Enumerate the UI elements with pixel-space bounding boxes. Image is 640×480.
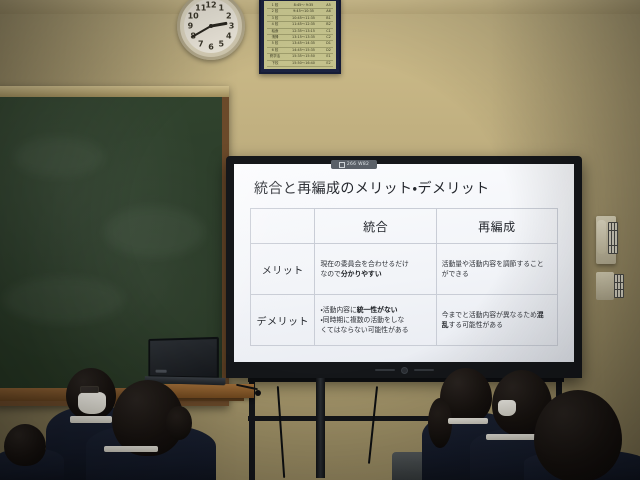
row-label-demerit: デメリット: [251, 295, 315, 346]
bell-schedule-poster: 1 校8:45〜 9:35A52 校9:45〜10:35A63 校10:45〜1…: [259, 0, 341, 74]
schedule-period: 終学活: [267, 54, 283, 59]
table-corner-cell: [251, 209, 315, 244]
table-body: メリット現在の委員会を合わせるだけなので分かりやすい活動量や活動内容を調節するこ…: [251, 244, 558, 346]
schedule-time: 13:15〜13:35: [286, 35, 321, 40]
schedule-room: D1: [324, 41, 333, 46]
table-header-row: 統合 再編成: [251, 209, 558, 244]
cell-line: 今までと活動内容が異なるため混: [442, 310, 552, 320]
display-screen[interactable]: 統合と再編成のメリット・デメリット 統合 再編成 メリット現在の委員会を合わせる…: [234, 164, 574, 362]
schedule-room: E2: [324, 61, 333, 66]
chalk-smudge: [4, 277, 124, 323]
clock-number-9: 9: [188, 22, 194, 31]
clock-number-7: 7: [198, 39, 204, 48]
clock-hour-hand: [211, 22, 227, 28]
clock-number-11: 11: [195, 4, 206, 13]
laptop-screen: [148, 337, 219, 379]
schedule-rows: 1 校8:45〜 9:35A52 校9:45〜10:35A63 校10:45〜1…: [264, 1, 336, 69]
schedule-period: 2 校: [267, 9, 283, 14]
table-cell: 今までと活動内容が異なるため混乱する可能性がある: [436, 295, 557, 346]
schedule-time: 15:50〜16:40: [286, 61, 321, 66]
cell-line: 活動量や活動内容を調節すること: [442, 259, 552, 269]
wall-intercom-keypad[interactable]: [614, 274, 624, 298]
face-mask: [498, 400, 516, 416]
speaker-slot: [375, 369, 395, 371]
laptop[interactable]: [148, 337, 219, 385]
schedule-time: 14:45〜15:35: [286, 48, 321, 53]
cell-line: 現在の委員会を合わせるだけ: [320, 259, 430, 269]
clock-center-pin: [209, 24, 213, 28]
comparison-table: 統合 再編成 メリット現在の委員会を合わせるだけなので分かりやすい活動量や活動内…: [250, 208, 558, 346]
schedule-period: 給食: [267, 29, 283, 34]
display-status-badge: 266 W82: [331, 160, 377, 169]
schedule-period: 3 校: [267, 16, 283, 21]
sailor-collar: [448, 418, 488, 424]
schedule-room: B2: [324, 22, 333, 27]
eyeglasses: [80, 386, 99, 393]
clock-face: 12 1 2 3 4 5 6 7 8 9 10 11: [184, 0, 238, 53]
row-label-merit: メリット: [251, 244, 315, 295]
schedule-time: 11:45〜12:35: [286, 22, 321, 27]
schedule-room: D2: [324, 48, 333, 53]
schedule-room: A5: [324, 3, 333, 8]
presentation-slide: 統合と再編成のメリット・デメリット 統合 再編成 メリット現在の委員会を合わせる…: [234, 164, 574, 362]
column-header-integration: 統合: [315, 209, 436, 244]
column-header-reorganization: 再編成: [436, 209, 557, 244]
schedule-row: 下校15:50〜16:40E2: [267, 61, 333, 67]
clock-number-2: 2: [226, 11, 232, 20]
table-cell: 活動量や活動内容を調節することができる: [436, 244, 557, 295]
schedule-time: 15:35〜15:50: [286, 54, 321, 59]
schedule-time: 10:45〜11:35: [286, 16, 321, 21]
cell-line: くてはならない可能性がある: [320, 325, 430, 335]
chalk-smudge: [14, 137, 104, 177]
cell-line: ができる: [442, 269, 552, 279]
clock-number-4: 4: [226, 32, 232, 41]
schedule-room: B1: [324, 16, 333, 21]
table-cell: 現在の委員会を合わせるだけなので分かりやすい: [315, 244, 436, 295]
clock-number-1: 1: [218, 4, 224, 13]
schedule-time: 12:35〜13:15: [286, 29, 321, 34]
interactive-display[interactable]: 266 W82 統合と再編成のメリット・デメリット 統合 再編成 メリット現在の…: [226, 156, 582, 378]
schedule-time: 9:45〜10:35: [286, 9, 321, 14]
chalkboard-top-rail: [0, 86, 229, 97]
display-sensor-icon: [401, 367, 408, 374]
schedule-period: 下校: [267, 61, 283, 66]
schedule-time: 13:45〜14:35: [286, 41, 321, 46]
badge-text: 266 W82: [347, 162, 369, 167]
display-stand-column: [316, 378, 325, 478]
schedule-room: E1: [324, 54, 333, 59]
wall-phone-handset[interactable]: [597, 220, 606, 254]
cell-line: 乱する可能性がある: [442, 320, 552, 330]
schedule-period: 5 校: [267, 41, 283, 46]
sailor-collar: [70, 416, 112, 423]
face-mask: [78, 392, 106, 414]
badge-square-icon: [339, 162, 345, 168]
schedule-room: A6: [324, 9, 333, 14]
laptop-logo: [156, 370, 167, 373]
schedule-room: C2: [324, 35, 333, 40]
schedule-room: C1: [324, 29, 333, 34]
table-row: メリット現在の委員会を合わせるだけなので分かりやすい活動量や活動内容を調節するこ…: [251, 244, 558, 295]
speaker-slot: [414, 369, 434, 371]
schedule-period: 清掃: [267, 35, 283, 40]
wall-phone-keypad[interactable]: [608, 222, 618, 254]
cell-line: ・活動内容に統一性がない: [320, 305, 430, 315]
chalk-smudge: [104, 207, 204, 257]
schedule-period: 1 校: [267, 3, 283, 8]
clock-number-3: 3: [229, 22, 235, 31]
cell-line: なので分かりやすい: [320, 269, 430, 279]
student-ponytail: [166, 406, 192, 440]
schedule-period: 4 校: [267, 22, 283, 27]
clock-number-12: 12: [205, 1, 216, 10]
student-head: [4, 424, 46, 466]
classroom-photo-scene: 12 1 2 3 4 5 6 7 8 9 10 11 1 校8:45〜 9:35…: [0, 0, 640, 480]
clock-number-6: 6: [208, 42, 214, 51]
student-head: [534, 390, 622, 480]
table-cell: ・活動内容に統一性がない・同時期に複数の活動をしなくてはならない可能性がある: [315, 295, 436, 346]
cell-line: ・同時期に複数の活動をしな: [320, 315, 430, 325]
clock-number-5: 5: [218, 39, 224, 48]
wall-intercom-body: [596, 272, 614, 300]
sailor-collar: [104, 446, 158, 452]
table-row: デメリット・活動内容に統一性がない・同時期に複数の活動をしなくてはならない可能性…: [251, 295, 558, 346]
schedule-time: 8:45〜 9:35: [286, 3, 321, 8]
microphone-head-icon: [255, 390, 261, 396]
sailor-collar: [486, 434, 540, 440]
slide-title: 統合と再編成のメリット・デメリット: [254, 180, 558, 198]
schedule-period: 6 校: [267, 48, 283, 53]
